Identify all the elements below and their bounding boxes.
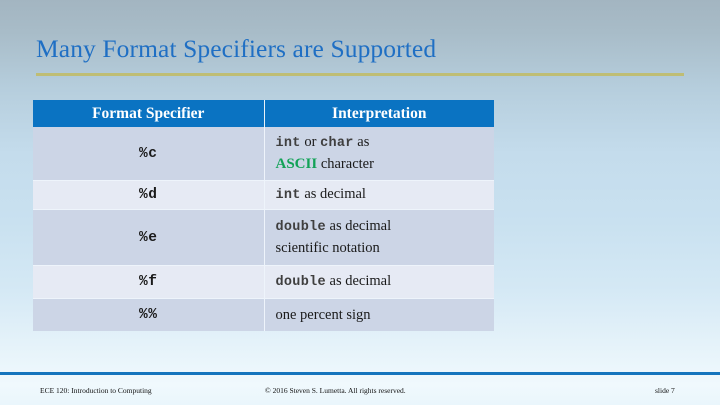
table-header-row: Format Specifier Interpretation — [33, 100, 494, 127]
cell-specifier: %e — [33, 210, 264, 266]
phrase-scientific-notation: scientific notation — [276, 240, 380, 256]
phrase-one-percent-sign: one percent sign — [276, 307, 371, 323]
phrase-as-decimal: as decimal — [326, 273, 391, 289]
type-keyword-double: double — [276, 275, 326, 290]
type-keyword-int: int — [276, 136, 301, 151]
cell-specifier: %c — [33, 127, 264, 181]
phrase-as-decimal: as decimal — [301, 186, 366, 202]
table-row: %c int or char as ASCII character — [33, 127, 494, 181]
slide-canvas: Many Format Specifiers are Supported For… — [0, 0, 720, 405]
footer-divider — [0, 372, 720, 375]
type-keyword-char: char — [320, 136, 354, 151]
phrase-as-decimal: as decimal — [326, 218, 391, 234]
table-row: %f double as decimal — [33, 266, 494, 299]
cell-specifier: %f — [33, 266, 264, 299]
footer-slide-number: slide 7 — [655, 386, 675, 395]
cell-interpretation: double as decimal scientific notation — [264, 210, 494, 266]
table-row: %e double as decimal scientific notation — [33, 210, 494, 266]
page-title: Many Format Specifiers are Supported — [36, 34, 696, 64]
column-header-format-specifier: Format Specifier — [33, 100, 264, 127]
table-row: %d int as decimal — [33, 181, 494, 210]
title-underline-rule — [36, 73, 684, 76]
footer-course-label: ECE 120: Introduction to Computing — [40, 386, 152, 395]
type-keyword-int: int — [276, 188, 301, 203]
cell-specifier: %% — [33, 299, 264, 332]
ascii-highlight: ASCII — [276, 156, 318, 172]
cell-specifier: %d — [33, 181, 264, 210]
column-header-interpretation: Interpretation — [264, 100, 494, 127]
cell-interpretation: one percent sign — [264, 299, 494, 332]
cell-interpretation: int or char as ASCII character — [264, 127, 494, 181]
type-keyword-double: double — [276, 220, 326, 235]
word-as: as — [354, 134, 370, 150]
cell-interpretation: int as decimal — [264, 181, 494, 210]
cell-interpretation: double as decimal — [264, 266, 494, 299]
conjunction-or: or — [301, 134, 320, 150]
word-character: character — [317, 156, 374, 172]
format-specifier-table: Format Specifier Interpretation %c int o… — [33, 100, 494, 331]
table-row: %% one percent sign — [33, 299, 494, 332]
footer-copyright-label: © 2016 Steven S. Lumetta. All rights res… — [265, 386, 406, 395]
